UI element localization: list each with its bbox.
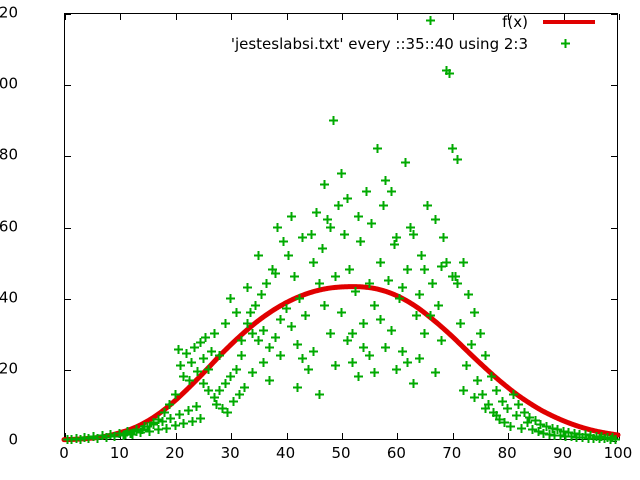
y-tick-0 [611,441,617,442]
x-tick-20 [176,14,177,20]
x-tick-label-90: 90 [553,446,572,461]
y-tick-100 [611,85,617,86]
y-tick-60 [65,228,71,229]
x-tick-80 [508,433,509,439]
x-tick-40 [287,14,288,20]
plot-frame [64,13,618,440]
x-tick-label-10: 10 [110,446,129,461]
x-tick-20 [176,433,177,439]
x-tick-label-0: 0 [59,446,69,461]
y-tick-label-120: 120 [0,6,18,21]
gnuplot-chart: 020406080100120 0102030405060708090100 f… [0,0,640,480]
y-tick-40 [611,299,617,300]
x-tick-label-30: 30 [221,446,240,461]
x-tick-label-80: 80 [498,446,517,461]
y-tick-label-40: 40 [0,290,18,305]
y-tick-label-80: 80 [0,148,18,163]
y-tick-120 [611,14,617,15]
x-tick-90 [564,14,565,20]
y-tick-label-0: 0 [8,433,18,448]
y-tick-20 [611,370,617,371]
y-tick-0 [65,441,71,442]
x-tick-label-20: 20 [165,446,184,461]
y-tick-40 [65,299,71,300]
x-tick-label-40: 40 [276,446,295,461]
x-tick-90 [564,433,565,439]
x-tick-100 [619,14,620,20]
x-tick-label-70: 70 [442,446,461,461]
x-tick-60 [397,14,398,20]
x-tick-80 [508,14,509,20]
x-tick-label-100: 100 [604,446,633,461]
x-tick-0 [65,14,66,20]
y-tick-80 [65,156,71,157]
x-tick-10 [120,14,121,20]
x-tick-30 [231,14,232,20]
y-tick-100 [65,85,71,86]
x-tick-50 [342,14,343,20]
x-tick-100 [619,433,620,439]
x-tick-50 [342,433,343,439]
y-tick-label-20: 20 [0,361,18,376]
x-tick-label-60: 60 [387,446,406,461]
y-tick-60 [611,228,617,229]
x-tick-70 [453,433,454,439]
y-tick-80 [611,156,617,157]
x-tick-60 [397,433,398,439]
x-tick-0 [65,433,66,439]
y-tick-label-60: 60 [0,219,18,234]
y-tick-label-100: 100 [0,77,18,92]
y-tick-20 [65,370,71,371]
x-tick-30 [231,433,232,439]
x-tick-10 [120,433,121,439]
x-tick-40 [287,433,288,439]
x-tick-70 [453,14,454,20]
x-tick-label-50: 50 [331,446,350,461]
